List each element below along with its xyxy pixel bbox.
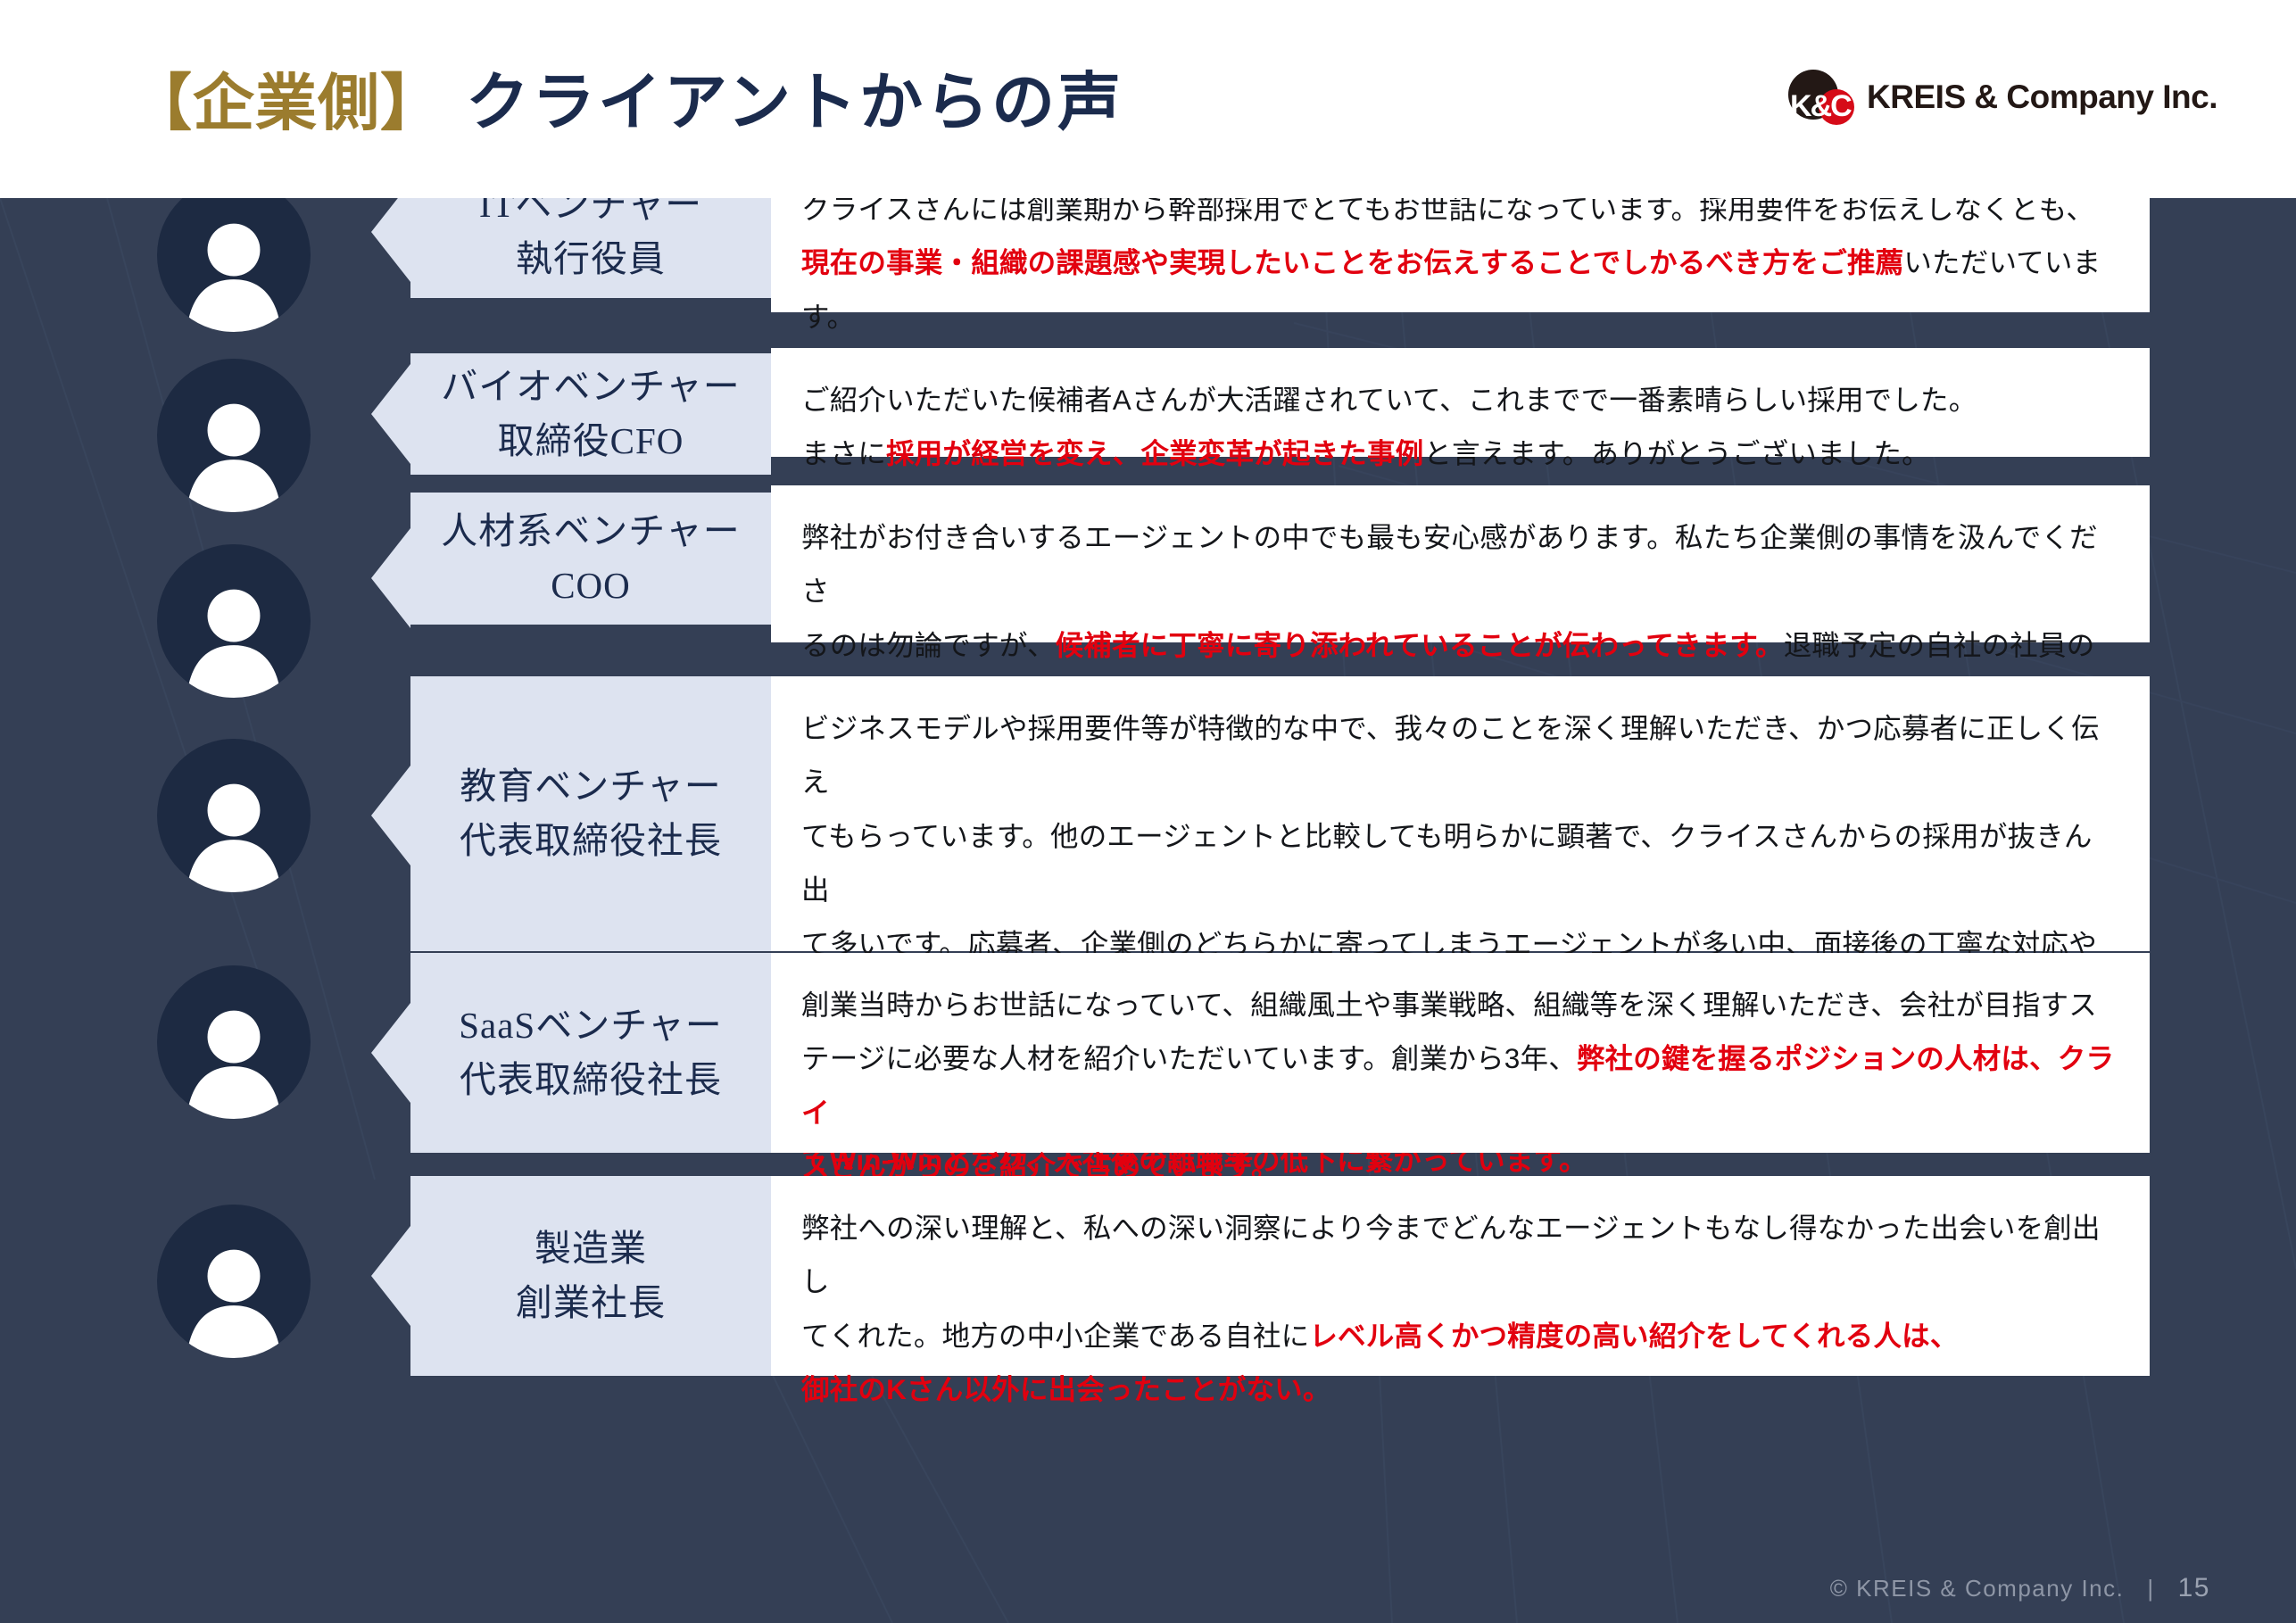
logo-mark-icon: K&C [1786, 70, 1858, 125]
highlight-run: 採用が経営を変え、企業変革が起きた事例 [886, 437, 1423, 469]
footer-separator: | [2147, 1575, 2154, 1602]
avatar [157, 359, 311, 512]
role-line-1: ITベンチャー [479, 198, 702, 232]
text-run: クライスさんには創業期から幹部採用でとてもお世話になっています。採用要件をお伝え… [801, 198, 2094, 225]
footer-copyright: © KREIS & Company Inc. [1830, 1575, 2125, 1602]
testimonial-row: ITベンチャー 執行役員 クライスさんには創業期から幹部採用でとてもお世話になっ… [0, 198, 2296, 366]
avatar [157, 544, 311, 698]
highlight-run: レベル高くかつ精度の高い紹介をしてくれる人は、 [1309, 1320, 1958, 1352]
testimonial-row: 製造業 創業社長 弊社への深い理解と、私への深い洞察により今までどんなエージェン… [0, 1183, 2296, 1388]
testimonial-line: 弊社への深い理解と、私への深い洞察により今までどんなエージェントもなし得なかった… [801, 1201, 2119, 1309]
role-line-1: 人材系ベンチャー [441, 504, 741, 559]
testimonial-text-card: 弊社がお付き合いするエージェントの中でも最も安心感があります。私たち企業側の事情… [771, 485, 2150, 642]
role-line-2: 取締役CFO [498, 414, 684, 468]
label-arrow-icon [371, 198, 410, 282]
testimonial-list: ITベンチャー 執行役員 クライスさんには創業期から幹部採用でとてもお世話になっ… [0, 198, 2296, 1623]
text-run: ビジネスモデルや採用要件等が特徴的な中で、我々のことを深く理解いただき、かつ応募… [801, 712, 2100, 798]
text-run: てくれた。地方の中小企業である自社に [801, 1320, 1309, 1352]
testimonial-role-label: ITベンチャー 執行役員 [410, 198, 771, 298]
role-line-2: COO [551, 559, 631, 613]
testimonial-line: てくれた。地方の中小企業である自社にレベル高くかつ精度の高い紹介をしてくれる人は… [801, 1309, 2119, 1362]
role-line-1: バイオベンチャー [441, 360, 741, 414]
label-arrow-icon [371, 1226, 410, 1326]
label-arrow-icon [371, 364, 410, 464]
person-silhouette-icon [181, 394, 286, 512]
label-arrow-icon [371, 766, 410, 865]
person-silhouette-icon [181, 1240, 286, 1358]
slide-body: ITベンチャー 執行役員 クライスさんには創業期から幹部採用でとてもお世話になっ… [0, 198, 2296, 1623]
testimonial-line: ご紹介いただいた候補者Aさんが大活躍されていて、これまでで一番素晴らしい採用でし… [801, 373, 2119, 426]
role-line-1: SaaSベンチャー [459, 998, 723, 1053]
testimonial-line: ビジネスモデルや採用要件等が特徴的な中で、我々のことを深く理解いただき、かつ応募… [801, 701, 2119, 809]
person-silhouette-icon [181, 774, 286, 892]
title-bracket-label: 【企業側】 [130, 53, 443, 142]
text-run: 弊社への深い理解と、私への深い洞察により今までどんなエージェントもなし得なかった… [801, 1212, 2101, 1297]
role-line-1: 製造業 [535, 1221, 647, 1276]
testimonial-text-card: ご紹介いただいた候補者Aさんが大活躍されていて、これまでで一番素晴らしい採用でし… [771, 348, 2150, 457]
avatar [157, 739, 311, 892]
text-run: と言えます。ありがとうございました。 [1423, 437, 1929, 469]
testimonial-text-card: 弊社への深い理解と、私への深い洞察により今までどんなエージェントもなし得なかった… [771, 1176, 2150, 1376]
role-line-1: 教育ベンチャー [460, 759, 722, 814]
person-silhouette-icon [181, 1001, 286, 1119]
testimonial-role-label: 人材系ベンチャー COO [410, 493, 771, 625]
testimonial-text-card: 創業当時からお世話になっていて、組織風土や事業戦略、組織等を深く理解いただき、会… [771, 953, 2150, 1153]
testimonial-line: まさに採用が経営を変え、企業変革が起きた事例と言えます。ありがとうございました。 [801, 426, 2119, 480]
role-line-2: 代表取締役社長 [460, 814, 722, 868]
testimonial-line: 弊社がお付き合いするエージェントの中でも最も安心感があります。私たち企業側の事情… [801, 510, 2119, 618]
slide-footer: © KREIS & Company Inc. | 15 [1830, 1573, 2210, 1603]
testimonial-text-card: クライスさんには創業期から幹部採用でとてもお世話になっています。採用要件をお伝え… [771, 198, 2150, 312]
role-line-2: 代表取締役社長 [460, 1053, 722, 1107]
highlight-run: 候補者に丁寧に寄り添われていることが伝わってきます。 [1056, 629, 1784, 661]
highlight-run: 御社のKさん以外に出会ったことがない。 [801, 1373, 1331, 1405]
slide-header: 【企業側】 クライアントからの声 K&C KREIS & Company Inc… [0, 0, 2296, 198]
text-run: ご紹介いただいた候補者Aさんが大活躍されていて、これまでで一番素晴らしい採用でし… [801, 384, 1977, 416]
role-line-2: 執行役員 [516, 232, 666, 286]
logo-company-name: KREIS & Company Inc. [1867, 79, 2217, 116]
text-run: テージに必要な人材を紹介いただいています。創業から3年、 [801, 1042, 1577, 1074]
avatar [157, 1205, 311, 1358]
avatar [157, 965, 311, 1119]
testimonial-row: SaaSベンチャー 代表取締役社長 創業当時からお世話になっていて、組織風土や事… [0, 973, 2296, 1176]
testimonial-line: 御社のKさん以外に出会ったことがない。 [801, 1362, 2119, 1416]
testimonial-row: 人材系ベンチャー COO 弊社がお付き合いするエージェントの中でも最も安心感があ… [0, 501, 2296, 673]
title-main-label: クライアントからの声 [466, 52, 1123, 143]
testimonial-row: 教育ベンチャー 代表取締役社長 ビジネスモデルや採用要件等が特徴的な中で、我々の… [0, 676, 2296, 971]
testimonial-line: クライスさんには創業期から幹部採用でとてもお世話になっています。採用要件をお伝え… [801, 198, 2119, 236]
highlight-run: 現在の事業・組織の課題感や実現したいことをお伝えすることでしかるべき方をご推薦 [801, 246, 1903, 278]
page-number: 15 [2178, 1573, 2210, 1603]
testimonial-row: バイオベンチャー 取締役CFO ご紹介いただいた候補者Aさんが大活躍されていて、… [0, 368, 2296, 503]
avatar [157, 198, 311, 332]
person-silhouette-icon [181, 214, 286, 332]
role-line-2: 創業社長 [516, 1276, 666, 1330]
testimonial-line: 創業当時からお世話になっていて、組織風土や事業戦略、組織等を深く理解いただき、会… [801, 978, 2119, 1031]
text-run: まさに [801, 437, 886, 469]
testimonial-role-label: 教育ベンチャー 代表取締役社長 [410, 676, 771, 951]
testimonial-role-label: バイオベンチャー 取締役CFO [410, 353, 771, 475]
testimonial-line: テージに必要な人材を紹介いただいています。創業から3年、弊社の鍵を握るポジション… [801, 1031, 2119, 1139]
testimonial-line: てもらっています。他のエージェントと比較しても明らかに顕著で、クライスさんからの… [801, 809, 2119, 917]
testimonial-role-label: SaaSベンチャー 代表取締役社長 [410, 953, 771, 1153]
testimonial-text-card: ビジネスモデルや採用要件等が特徴的な中で、我々のことを深く理解いただき、かつ応募… [771, 676, 2150, 951]
text-run: てもらっています。他のエージェントと比較しても明らかに顕著で、クライスさんからの… [801, 820, 2093, 906]
logo-kc-text: K&C [1790, 89, 1856, 123]
label-arrow-icon [371, 1003, 410, 1103]
testimonial-role-label: 製造業 創業社長 [410, 1176, 771, 1376]
text-run: るのは勿論ですが、 [801, 629, 1056, 661]
page-title: 【企業側】 クライアントからの声 [130, 52, 1123, 143]
label-arrow-icon [371, 528, 410, 628]
text-run: 創業当時からお世話になっていて、組織風土や事業戦略、組織等を深く理解いただき、会… [801, 989, 2097, 1021]
text-run: 弊社がお付き合いするエージェントの中でも最も安心感があります。私たち企業側の事情… [801, 521, 2098, 607]
testimonial-line: 現在の事業・組織の課題感や実現したいことをお伝えすることでしかるべき方をご推薦い… [801, 236, 2119, 344]
kreis-logo: K&C KREIS & Company Inc. [1786, 70, 2217, 125]
